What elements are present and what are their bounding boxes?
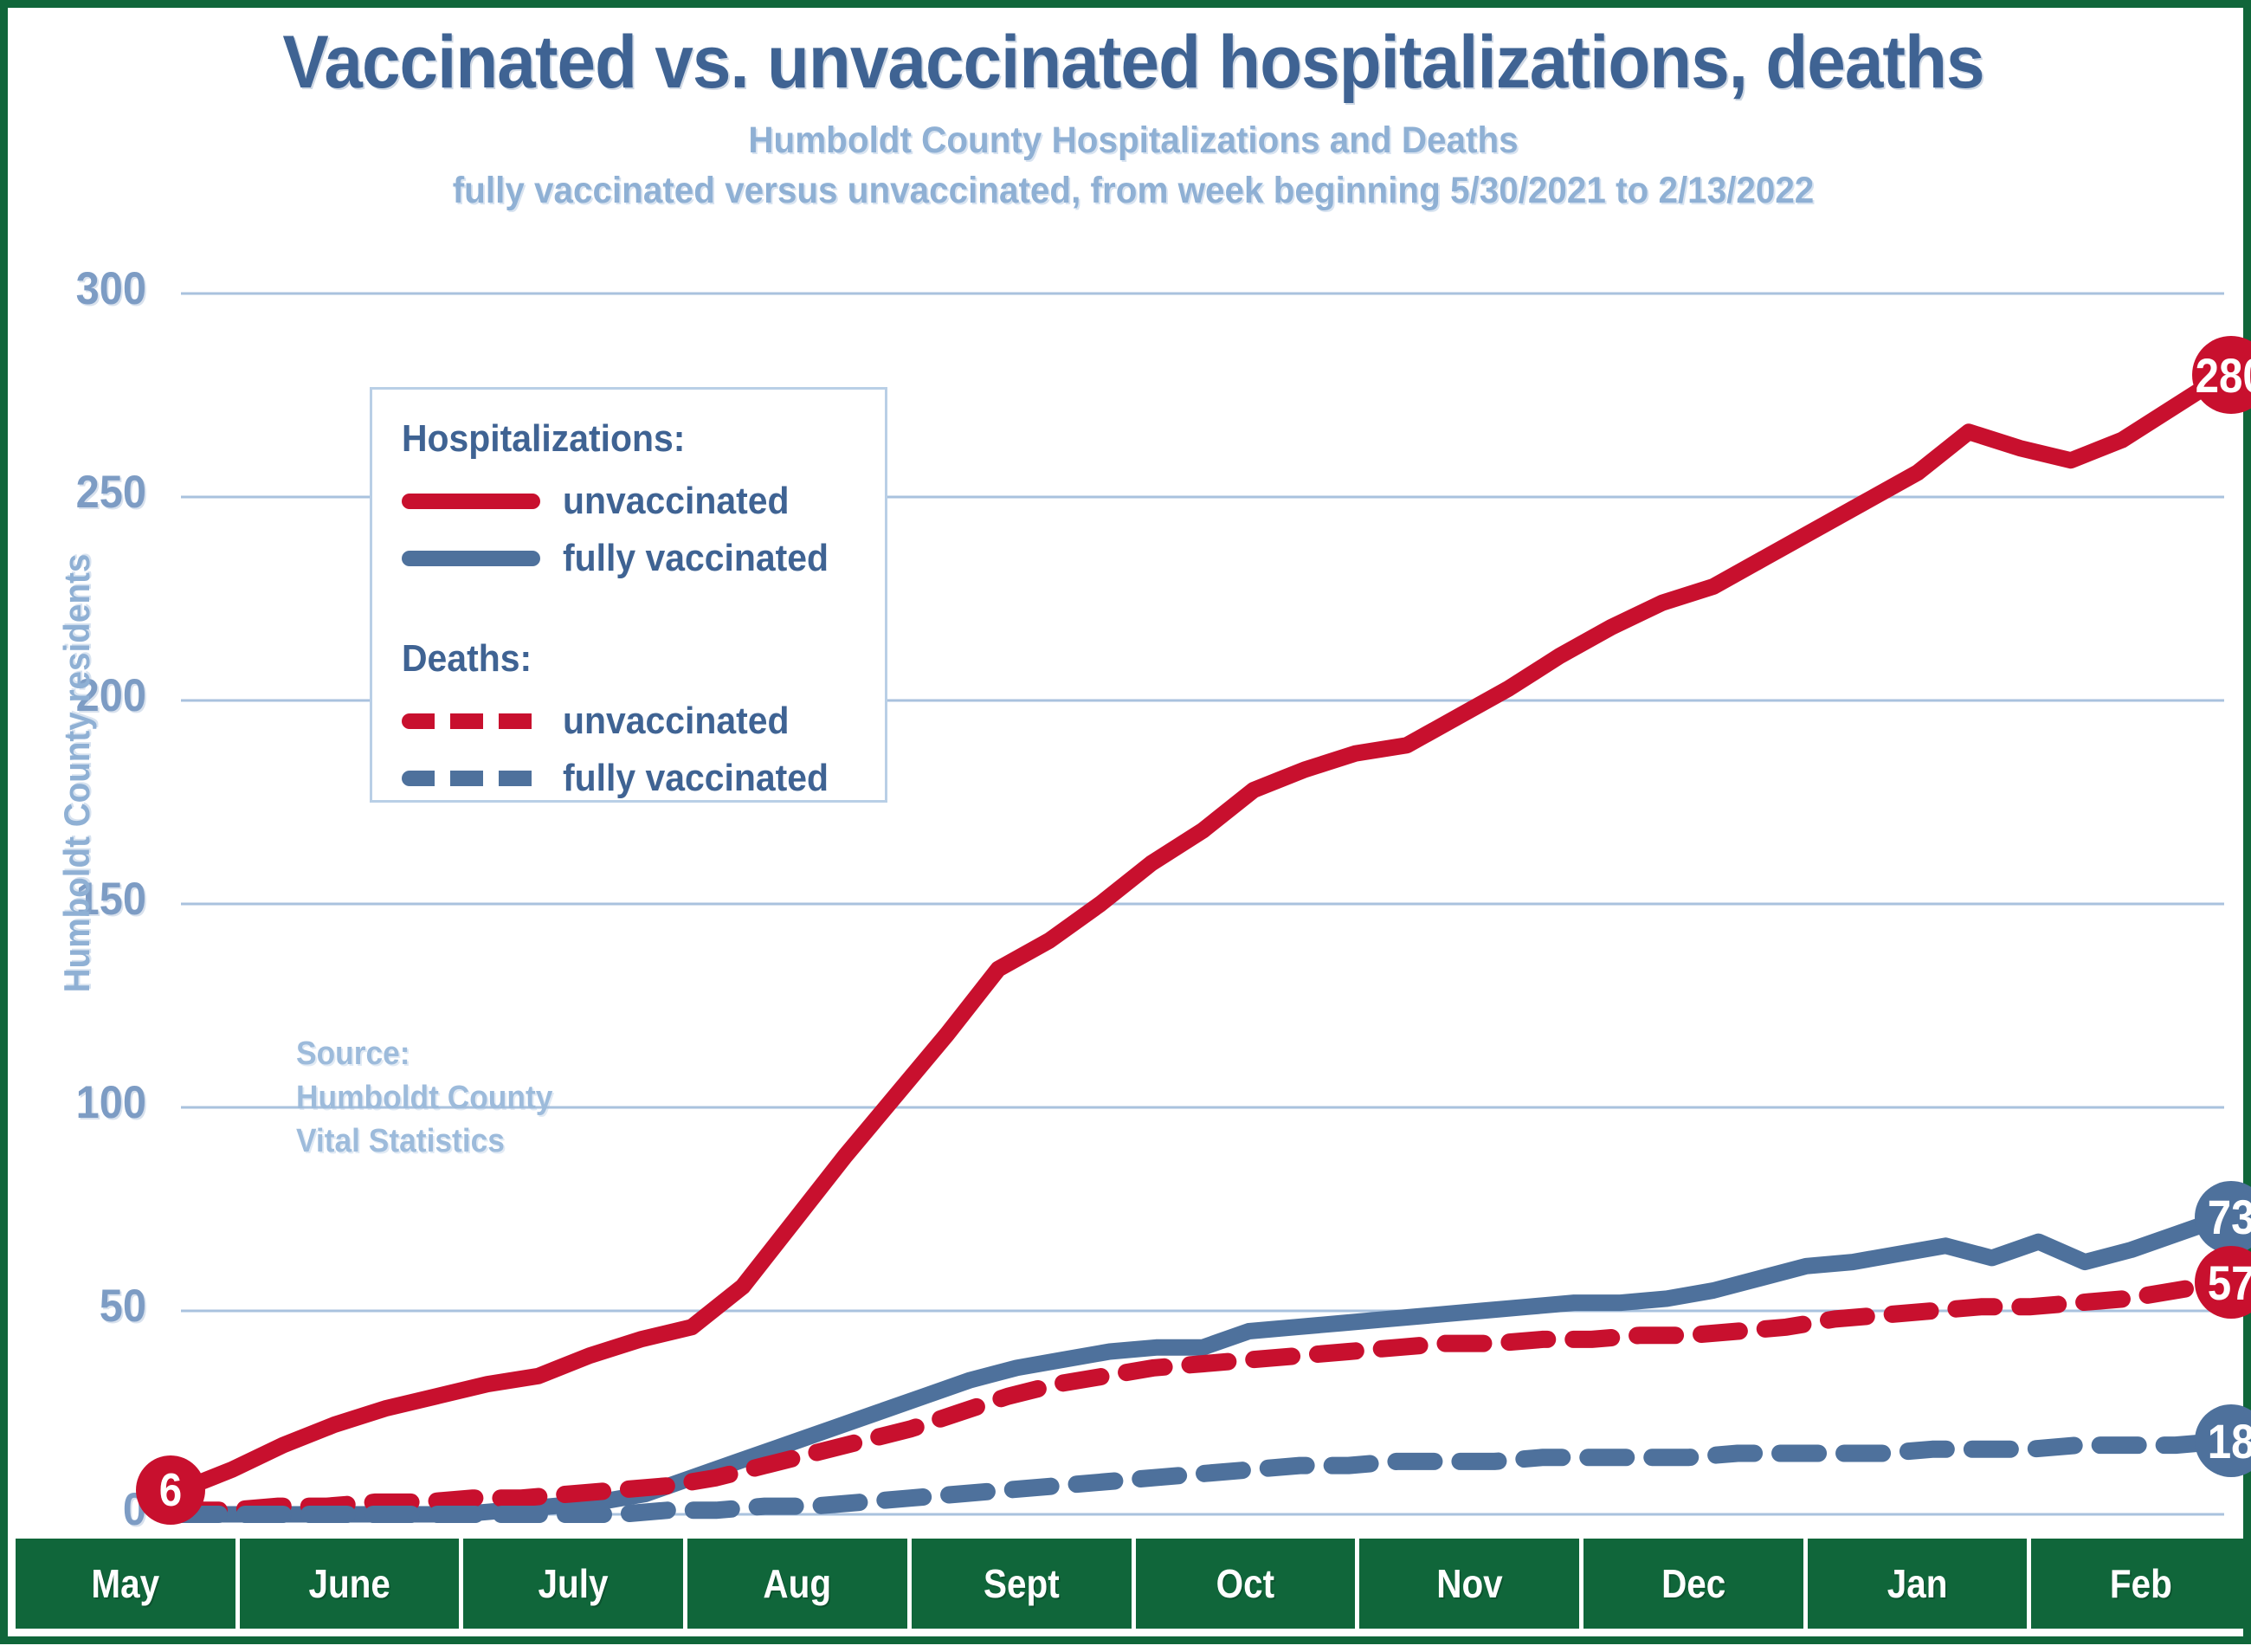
legend-heading-hospitalizations: Hospitalizations: <box>402 417 851 461</box>
legend-swatch-solid-red-icon <box>402 494 540 509</box>
end-badge-hosp-fully-vaccinated-label: 73 <box>2208 1189 2251 1245</box>
x-axis-month-label: Aug <box>764 1560 832 1607</box>
x-axis-month-label: Dec <box>1661 1560 1725 1607</box>
legend-label-hosp-fully-vaccinated: fully vaccinated <box>563 537 829 580</box>
chart-canvas <box>8 8 2251 1652</box>
x-axis-month-june: June <box>240 1539 464 1629</box>
x-axis-month-oct: Oct <box>1136 1539 1360 1629</box>
end-badge-hosp-unvaccinated: 280 <box>2192 336 2251 414</box>
start-value-badge-label: 6 <box>159 1463 182 1517</box>
legend-item-death-unvaccinated[interactable]: unvaccinated <box>402 693 885 750</box>
x-axis-month-dec: Dec <box>1583 1539 1808 1629</box>
x-axis-month-july: July <box>463 1539 687 1629</box>
legend-label-death-unvaccinated: unvaccinated <box>563 700 790 743</box>
chart-legend: Hospitalizations: unvaccinated fully vac… <box>370 387 887 803</box>
end-badge-death-fully-vaccinated-label: 18 <box>2208 1413 2251 1469</box>
x-axis-month-label: June <box>308 1560 390 1607</box>
source-note: Source:Humboldt CountyVital Statistics <box>296 1032 552 1164</box>
x-axis-month-bar: MayJuneJulyAugSeptOctNovDecJanFeb <box>16 1539 2251 1629</box>
legend-label-death-fully-vaccinated: fully vaccinated <box>563 757 829 800</box>
legend-item-hosp-fully-vaccinated[interactable]: fully vaccinated <box>402 530 885 587</box>
chart-frame: Vaccinated vs. unvaccinated hospitalizat… <box>0 0 2251 1644</box>
x-axis-month-label: Feb <box>2110 1560 2172 1607</box>
x-axis-month-label: Nov <box>1436 1560 1502 1607</box>
source-note-line-2: Vital Statistics <box>296 1120 552 1164</box>
plot-area <box>8 8 2251 1652</box>
x-axis-month-aug: Aug <box>687 1539 912 1629</box>
x-axis-month-sept: Sept <box>912 1539 1136 1629</box>
legend-item-hosp-unvaccinated[interactable]: unvaccinated <box>402 473 885 530</box>
y-axis-tick-50: 50 <box>35 1280 146 1333</box>
end-badge-hosp-unvaccinated-label: 280 <box>2196 347 2251 403</box>
legend-swatch-dashed-red-icon <box>402 713 540 729</box>
start-value-badge: 6 <box>136 1455 205 1525</box>
legend-heading-deaths: Deaths: <box>402 637 851 681</box>
y-axis-tick-250: 250 <box>35 466 146 519</box>
source-note-line-1: Humboldt County <box>296 1076 552 1120</box>
x-axis-month-label: May <box>91 1560 159 1607</box>
series-line-3 <box>181 1441 2224 1514</box>
y-axis-tick-0: 0 <box>35 1483 146 1536</box>
source-note-line-0: Source: <box>296 1032 552 1076</box>
x-axis-month-label: July <box>539 1560 609 1607</box>
x-axis-month-label: Jan <box>1887 1560 1948 1607</box>
x-axis-month-label: Oct <box>1216 1560 1274 1607</box>
end-badge-death-unvaccinated-label: 57 <box>2208 1255 2251 1311</box>
legend-label-hosp-unvaccinated: unvaccinated <box>563 480 790 523</box>
y-axis-tick-300: 300 <box>35 262 146 315</box>
x-axis-month-may: May <box>16 1539 240 1629</box>
x-axis-month-jan: Jan <box>1808 1539 2032 1629</box>
x-axis-month-feb: Feb <box>2031 1539 2251 1629</box>
legend-swatch-solid-blue-icon <box>402 551 540 566</box>
y-axis-title: Humboldt County residents <box>56 526 98 1020</box>
legend-item-death-fully-vaccinated[interactable]: fully vaccinated <box>402 750 885 807</box>
x-axis-month-label: Sept <box>984 1560 1060 1607</box>
legend-swatch-dashed-blue-icon <box>402 771 540 786</box>
x-axis-month-nov: Nov <box>1359 1539 1583 1629</box>
y-axis-tick-100: 100 <box>35 1076 146 1129</box>
